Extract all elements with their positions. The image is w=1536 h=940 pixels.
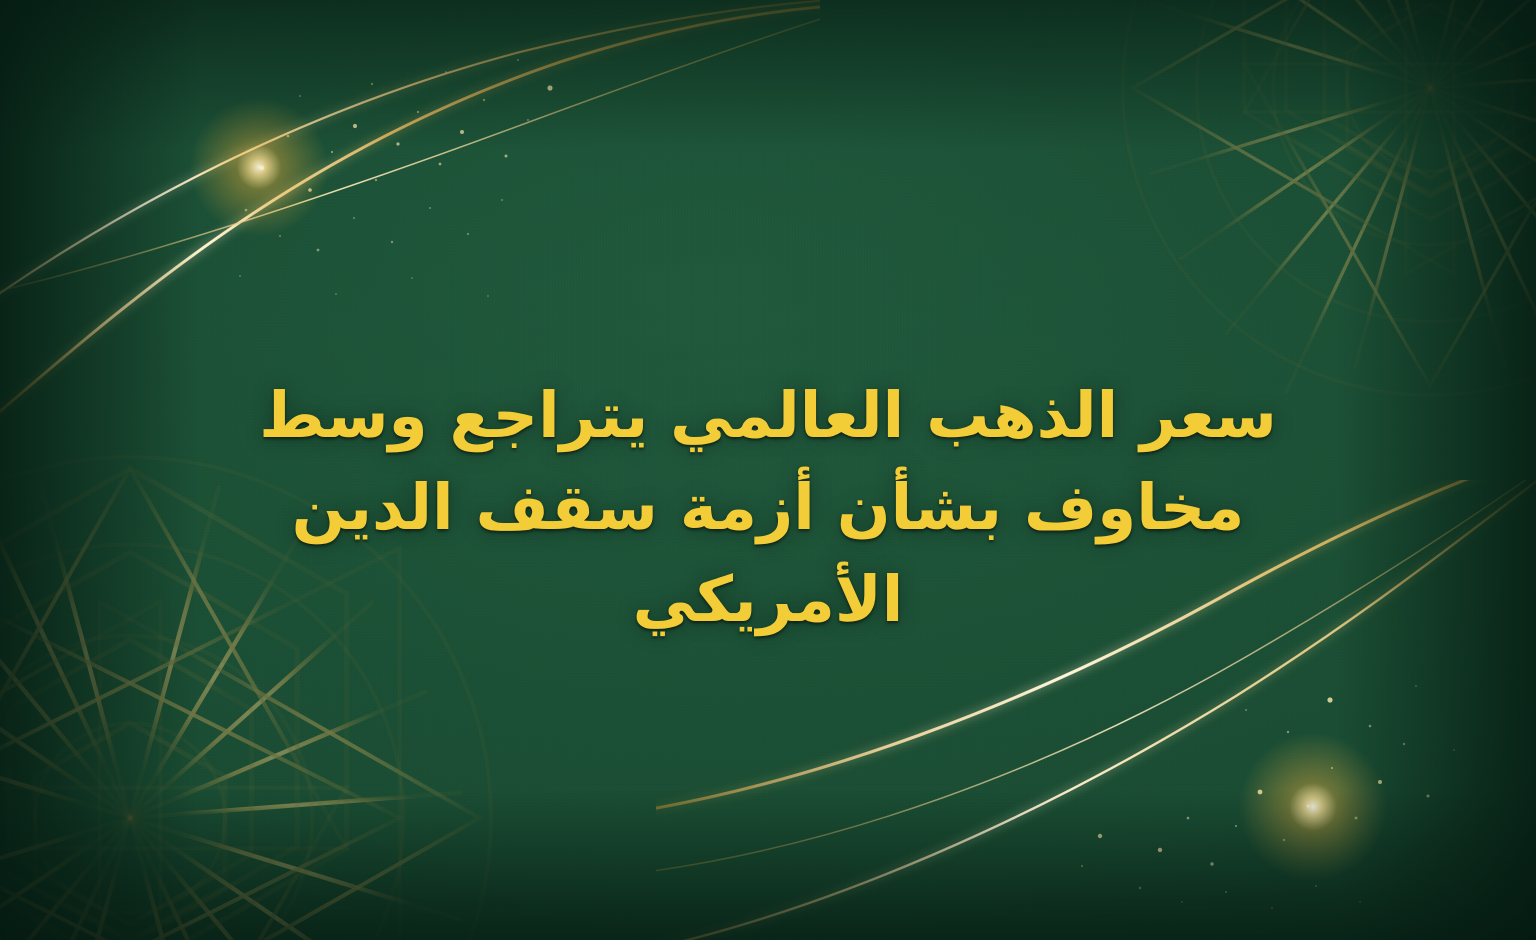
headline-block: سعر الذهب العالمي يتراجع وسط مخاوف بشأن … [0, 370, 1536, 646]
headline-line-1: سعر الذهب العالمي يتراجع وسط [259, 370, 1277, 462]
sparkle-dust-top-left-icon [150, 40, 620, 340]
mandala-top-right-icon [1110, 0, 1536, 408]
sparkle-dust-bottom-right-icon [1040, 640, 1510, 940]
gold-curves-top-left-icon [0, 0, 820, 430]
headline-line-3: الأمريكي [633, 554, 904, 646]
sparkle-burst-top-left-icon [180, 88, 338, 246]
sparkle-burst-bottom-right-icon [1228, 722, 1398, 892]
news-banner-card: سعر الذهب العالمي يتراجع وسط مخاوف بشأن … [0, 0, 1536, 940]
headline-line-2: مخاوف بشأن أزمة سقف الدين [292, 462, 1245, 554]
